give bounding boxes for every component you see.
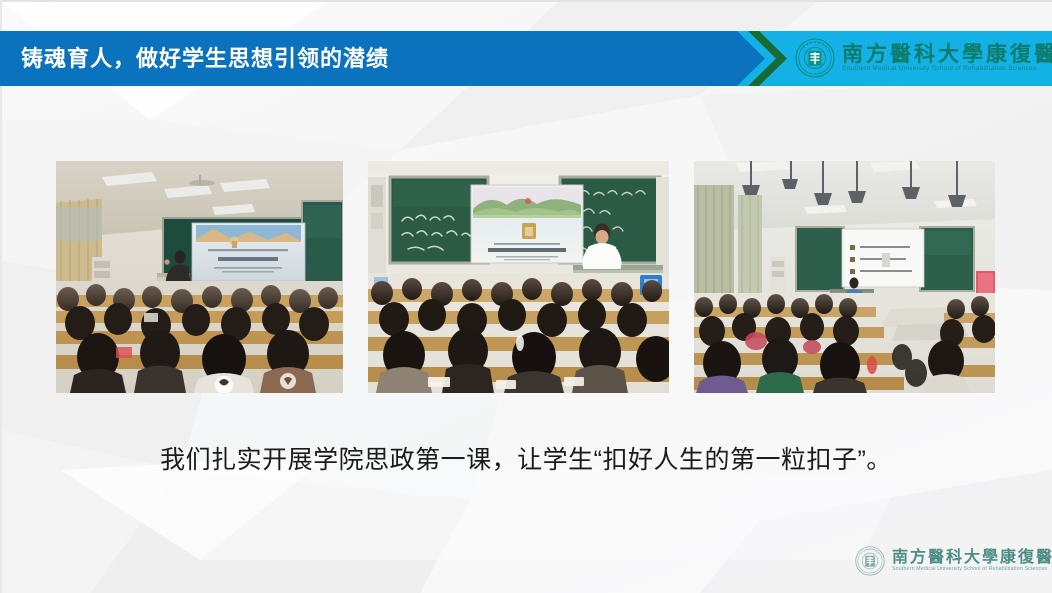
slide-left-border [0,0,2,593]
university-logo-footer: 南方醫科大學康復醫學院 Southern Medical University … [855,546,1052,576]
logo-wordmark: 南方醫科大學康復醫學院 Southern Medical University … [842,44,1052,73]
logo-wordmark-footer: 南方醫科大學康復醫學院 Southern Medical University … [892,550,1052,572]
lecture-photo-3 [694,161,995,393]
lecture-photo-2 [368,161,669,393]
lecture-photo-1 [56,161,343,393]
page-title: 铸魂育人，做好学生思想引领的潜绩 [21,31,389,86]
slide-top-border [0,0,1052,2]
slide-canvas: 铸魂育人，做好学生思想引领的潜绩 [0,0,1052,593]
logo-chinese-name-footer: 南方醫科大學康復醫學院 [892,550,1052,566]
university-logo-header: 南方醫科大學康復醫學院 Southern Medical University … [795,38,1052,78]
university-seal-icon [795,38,835,78]
logo-chinese-name: 南方醫科大學康復醫學院 [842,44,1052,65]
photo-gallery [56,161,1007,393]
university-seal-icon-footer [855,546,885,576]
logo-english-name: Southern Medical University School of Re… [842,66,1052,73]
slide-caption: 我们扎实开展学院思政第一课，让学生“扣好人生的第一粒扣子”。 [0,440,1052,476]
logo-english-name-footer: Southern Medical University School of Re… [892,567,1052,572]
